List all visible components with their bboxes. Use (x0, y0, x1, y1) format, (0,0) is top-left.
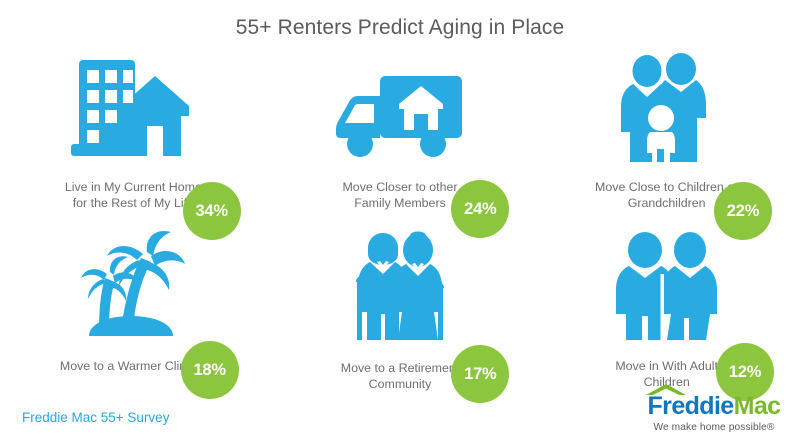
stat-card-move-in-with-adult-children: 12% Move in With Adult Children (533, 226, 800, 393)
apartment-house-icon (63, 52, 203, 170)
family-parents-child-icon (607, 52, 727, 170)
brand-word-mac: Mac (734, 392, 781, 420)
stat-card-move-closer-to-family: 24% Move Closer to other Family Members (267, 48, 534, 226)
percent-badge: 18% (181, 341, 239, 399)
brand-wordmark: FreddieMac (638, 394, 790, 419)
page-title: 55+ Renters Predict Aging in Place (0, 16, 800, 40)
icon-wrap (53, 226, 213, 344)
icon-wrap (587, 48, 747, 170)
brand-word-freddie: Freddie (648, 392, 734, 420)
adult-couple-icon (605, 230, 729, 344)
moving-truck-icon (330, 66, 470, 170)
stat-card-move-close-to-children: 22% Move Close to Children or Grandchild… (533, 48, 800, 226)
stat-card-retirement-community: 17% Move to a Retirement Community (267, 226, 534, 393)
stat-label: Move Closer to other Family Members (342, 179, 457, 212)
freddie-mac-logo: FreddieMac We make home possible® (638, 383, 790, 433)
stat-card-live-in-current-home: 34% Live in My Current Home for the Rest… (0, 48, 267, 226)
icon-wrap (587, 226, 747, 344)
palm-trees-icon (63, 232, 203, 344)
stat-grid: 34% Live in My Current Home for the Rest… (0, 48, 800, 393)
icon-wrap (53, 48, 213, 170)
elderly-couple-canes-icon (336, 230, 464, 346)
brand-tagline: We make home possible® (638, 422, 790, 433)
icon-wrap (320, 226, 480, 346)
stat-card-warmer-climate: 18% Move to a Warmer Climate (0, 226, 267, 393)
percent-badge: 17% (451, 345, 509, 403)
stat-label: Move to a Retirement Community (341, 360, 459, 393)
stat-label: Live in My Current Home for the Rest of … (65, 179, 202, 212)
icon-wrap (320, 48, 480, 170)
survey-source-label: Freddie Mac 55+ Survey (22, 410, 169, 425)
